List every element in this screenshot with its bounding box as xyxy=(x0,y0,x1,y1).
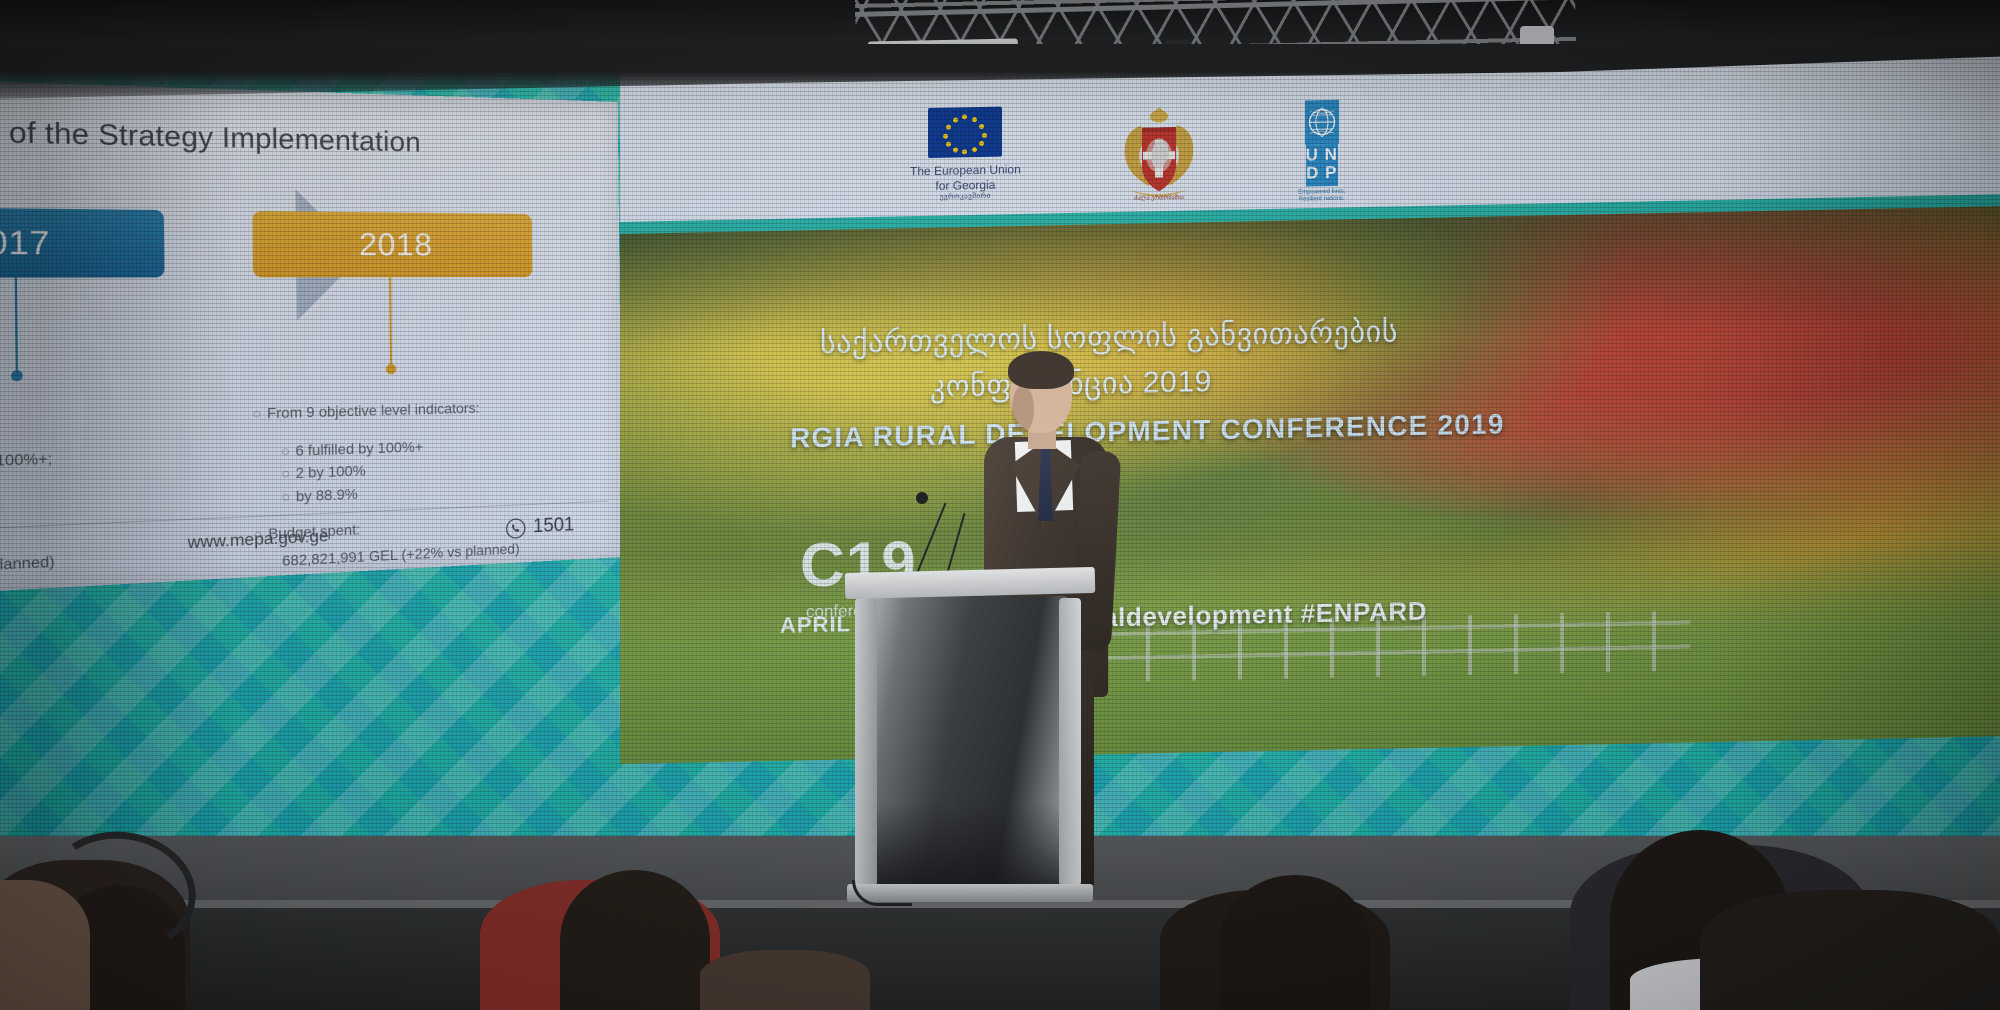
partner-logos: The European Union for Georgia ევროკავში… xyxy=(910,96,1550,219)
eu-logo-caption: The European Union for Georgia ევროკავში… xyxy=(910,162,1021,203)
podium-side-left xyxy=(855,598,877,886)
conference-hall-scene: ults of the Strategy Implementation 2017… xyxy=(0,0,2000,1010)
right-column-indicators: ○From 9 objective level indicators: ○6 f… xyxy=(252,395,591,575)
hair xyxy=(1008,351,1074,389)
georgia-coat-of-arms-logo: ძალა ერთობაშია xyxy=(1111,102,1207,208)
slide-footer-phone: 1501 xyxy=(505,514,574,540)
eu-flag-icon xyxy=(928,107,1002,158)
undp-logo: U ND P Empowered lives. Resilient nation… xyxy=(1297,100,1347,204)
year-badge-2018: 2018 xyxy=(252,211,532,277)
conference-title-block: საქართველოს სოფლის განვითარების კონფერენ… xyxy=(620,205,2000,764)
audience-head xyxy=(560,870,710,1010)
left-column-indicators: r level indicators: d by 100% or 100%+; … xyxy=(0,403,225,583)
eu-logo: The European Union for Georgia ევროკავში… xyxy=(910,106,1021,203)
slide-title: ults of the Strategy Implementation xyxy=(0,114,421,159)
title-georgian-line-1: საქართველოს სოფლის განვითარების xyxy=(820,314,1398,361)
undp-caption: Empowered lives. Resilient nations. xyxy=(1298,189,1345,204)
face-shading xyxy=(1012,385,1034,433)
left-column-header: r level indicators: xyxy=(0,403,224,436)
podium-lectern-top xyxy=(845,567,1096,599)
connector-line-right xyxy=(389,277,392,369)
right-column-bullets: ○6 fulfilled by 100%+ ○2 by 100% ○by 88.… xyxy=(281,431,591,510)
microphone-head-icon xyxy=(916,492,928,504)
connector-line-left xyxy=(15,278,18,376)
right-slide-conference-visual: The European Union for Georgia ევროკავში… xyxy=(620,44,2000,834)
left-slide-strategy-results: ults of the Strategy Implementation 2017… xyxy=(0,79,622,595)
podium-side-right xyxy=(1059,598,1081,886)
audience-person xyxy=(1700,890,2000,1010)
bullet-icon: ○ xyxy=(281,442,290,459)
bullet-icon: ○ xyxy=(281,465,290,482)
audience-person xyxy=(700,950,870,1010)
podium xyxy=(845,570,1095,925)
bullet-icon: ○ xyxy=(281,488,290,505)
right-column-header: ○From 9 objective level indicators: xyxy=(252,395,590,426)
connector-dot-right xyxy=(386,364,396,375)
phone-number: 1501 xyxy=(533,514,574,538)
un-emblem-icon xyxy=(1305,100,1339,145)
coat-of-arms-icon: ძალა ერთობაშია xyxy=(1111,102,1207,208)
bullet-icon: ○ xyxy=(252,405,261,422)
phone-icon xyxy=(505,517,526,539)
year-badge-2017: 2017 xyxy=(0,207,165,278)
undp-letters: U ND P xyxy=(1306,144,1338,187)
title-english: RGIA RURAL DEVELOPMENT CONFERENCE 2019 xyxy=(790,408,1505,454)
left-column-bullets: d by 100% or 100%+; d partially; lled. xyxy=(0,442,225,526)
podium-shadow xyxy=(867,802,1069,886)
audience-head xyxy=(1220,875,1370,1010)
connector-dot-left xyxy=(11,370,23,381)
